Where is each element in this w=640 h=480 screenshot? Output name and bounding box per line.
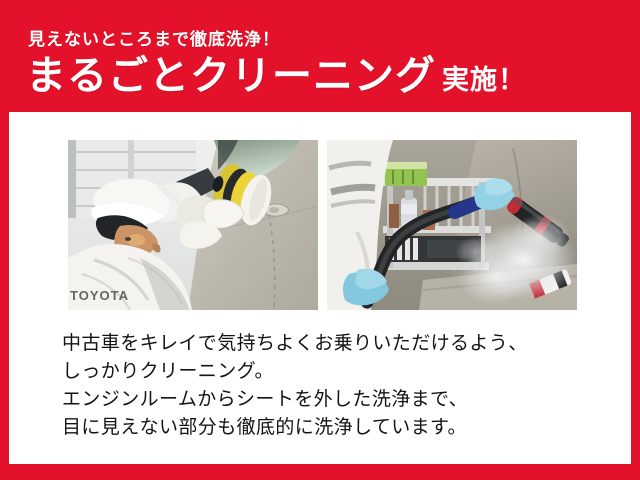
body-copy-line-2: しっかりクリーニング。 <box>62 358 602 386</box>
banner-body-panel: TOYOTA <box>9 112 631 464</box>
polishing-photo: TOYOTA <box>68 140 318 310</box>
header-title: まるごとクリーニング <box>26 56 436 96</box>
steam-cleaning-photo <box>327 140 577 310</box>
body-copy-line-3: エンジンルームからシートを外した洗浄まで、 <box>62 386 602 414</box>
banner-header: 見えないところまで徹底洗浄！ まるごとクリーニング 実施！ <box>0 0 640 112</box>
cleaning-service-banner: 見えないところまで徹底洗浄！ まるごとクリーニング 実施！ <box>0 0 640 480</box>
header-title-row: まるごとクリーニング 実施！ <box>26 56 526 96</box>
header-title-suffix: 実施！ <box>442 67 526 94</box>
body-copy: 中古車をキレイで気持ちよくお乗りいただけるよう、 しっかりクリーニング。 エンジ… <box>62 330 602 442</box>
steam-cleaning-photo-art <box>327 140 577 310</box>
photo-row: TOYOTA <box>68 140 578 310</box>
frame-bottom-strip <box>0 464 640 480</box>
frame-right-strip <box>631 110 640 480</box>
body-copy-line-4: 目に見えない部分も徹底的に洗浄しています。 <box>62 414 602 442</box>
body-copy-line-1: 中古車をキレイで気持ちよくお乗りいただけるよう、 <box>62 330 602 358</box>
header-subtitle: 見えないところまで徹底洗浄！ <box>28 25 280 50</box>
polishing-photo-art: TOYOTA <box>68 140 318 310</box>
